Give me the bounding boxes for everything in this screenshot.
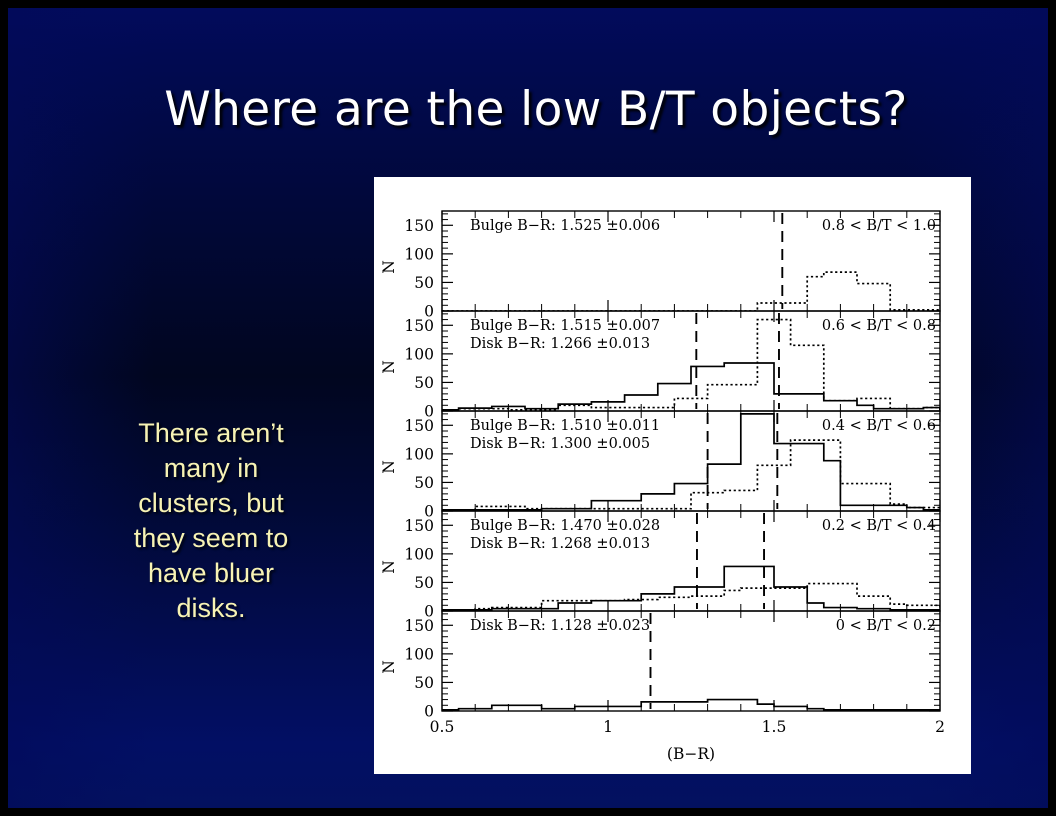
ytick-label: 100 [404, 545, 434, 563]
histogram-disk-panel-bt-02-04 [442, 566, 940, 611]
panel-annotation: Bulge B−R: 1.525 ±0.006 [470, 218, 660, 234]
panel-annotation: Disk B−R: 1.128 ±0.023 [470, 618, 650, 634]
xtick-label: 1.5 [762, 718, 787, 736]
page-title: Where are the low B/T objects? [8, 82, 1056, 137]
ytick-label: 100 [404, 245, 434, 263]
ytick-label: 150 [404, 617, 434, 635]
xtick-label: 0.5 [430, 718, 455, 736]
yaxis-label: N [380, 660, 398, 674]
ytick-label: 150 [404, 417, 434, 435]
panel-range-label-panel-bt-06-08: 0.6 < B/T < 0.8 [822, 318, 936, 334]
histogram-disk-panel-bt-00-02 [442, 700, 940, 711]
ytick-label: 150 [404, 217, 434, 235]
histogram-bulge-panel-bt-08-10 [442, 272, 940, 311]
yaxis-label: N [380, 260, 398, 274]
ytick-label: 50 [414, 674, 434, 692]
panel-range-label-panel-bt-08-10: 0.8 < B/T < 1.0 [822, 218, 936, 234]
ytick-label: 50 [414, 574, 434, 592]
ytick-label: 150 [404, 517, 434, 535]
ytick-label: 50 [414, 274, 434, 292]
yaxis-label: N [380, 360, 398, 374]
slide-canvas: Where are the low B/T objects? There are… [0, 0, 1056, 816]
ytick-label: 100 [404, 345, 434, 363]
ytick-label: 100 [404, 645, 434, 663]
yaxis-label: N [380, 560, 398, 574]
ytick-label: 50 [414, 474, 434, 492]
caption-text: There aren’t many in clusters, but they … [118, 416, 304, 626]
panel-annotation: Disk B−R: 1.300 ±0.005 [470, 436, 650, 452]
panel-annotation: Disk B−R: 1.268 ±0.013 [470, 536, 650, 552]
figure-svg: 050100150Bulge B−R: 1.525 ±0.0060.8 < B/… [374, 177, 971, 774]
ytick-label: 50 [414, 374, 434, 392]
xaxis-label: (B−R) [667, 745, 715, 763]
ytick-label: 150 [404, 317, 434, 335]
panel-annotation: Bulge B−R: 1.515 ±0.007 [470, 318, 660, 334]
panel-annotation: Bulge B−R: 1.470 ±0.028 [470, 518, 660, 534]
ytick-label: 100 [404, 445, 434, 463]
panel-range-label-panel-bt-00-02: 0 < B/T < 0.2 [836, 618, 936, 634]
yaxis-label: N [380, 460, 398, 474]
panel-range-label-panel-bt-04-06: 0.4 < B/T < 0.6 [822, 418, 936, 434]
panel-annotation: Disk B−R: 1.266 ±0.013 [470, 336, 650, 352]
histogram-figure: 050100150Bulge B−R: 1.525 ±0.0060.8 < B/… [374, 177, 971, 774]
panel-range-label-panel-bt-02-04: 0.2 < B/T < 0.4 [822, 518, 936, 534]
xtick-label: 2 [935, 718, 945, 736]
xtick-label: 1 [603, 718, 613, 736]
panel-annotation: Bulge B−R: 1.510 ±0.011 [470, 418, 660, 434]
histogram-disk-panel-bt-06-08 [442, 363, 940, 411]
